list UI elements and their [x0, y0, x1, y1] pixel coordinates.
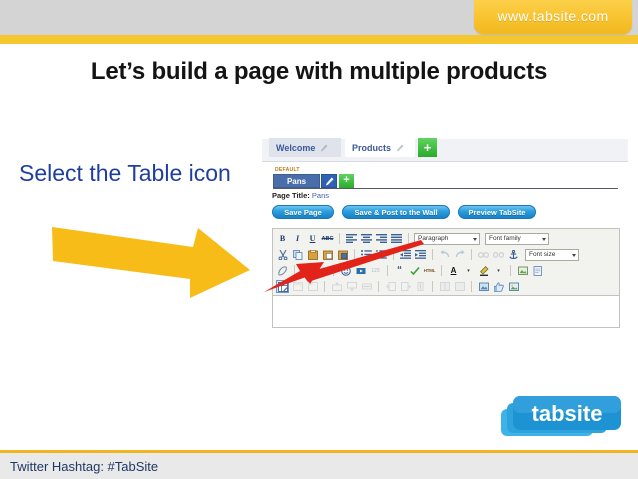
toolbar-separator [510, 265, 511, 276]
page-title-value: Pans [312, 191, 329, 200]
toolbar-separator [471, 249, 472, 260]
page-title-row: Page Title: Pans [272, 191, 329, 200]
red-pointer-arrow [262, 240, 437, 300]
tab-welcome-label: Welcome [276, 143, 315, 153]
insert-photo-icon[interactable] [477, 280, 490, 293]
footer-bar: Twitter Hashtag: #TabSite [0, 453, 638, 479]
website-badge-label: www.tabsite.com [474, 8, 632, 24]
slide-canvas: www.tabsite.com Let’s build a page with … [0, 0, 638, 479]
like-button-icon[interactable] [492, 280, 505, 293]
orange-callout-arrow [50, 210, 255, 330]
tab-products-label: Products [352, 143, 391, 153]
header-accent-rule [0, 35, 638, 44]
subtab-edit-button[interactable] [321, 174, 337, 188]
undo-icon[interactable] [438, 248, 451, 261]
background-color-caret-icon[interactable]: ▾ [492, 264, 505, 277]
chevron-down-icon [542, 238, 546, 241]
save-post-wall-button[interactable]: Save & Post to the Wall [342, 205, 450, 219]
add-tab-button[interactable]: + [418, 138, 437, 157]
tabsite-logo-text: tabsite [532, 401, 603, 426]
anchor-icon[interactable] [507, 248, 520, 261]
link-icon[interactable] [477, 248, 490, 261]
default-label: DEFAULT [275, 167, 300, 173]
tab-welcome[interactable]: Welcome [269, 138, 341, 157]
chevron-down-icon [473, 238, 477, 241]
toolbar-separator [441, 265, 442, 276]
footer-text: Twitter Hashtag: #TabSite [10, 459, 158, 474]
split-cells-icon[interactable] [438, 280, 451, 293]
insert-image-icon[interactable] [516, 264, 529, 277]
merge-cells-icon[interactable] [453, 280, 466, 293]
insert-gallery-icon[interactable] [507, 280, 520, 293]
page-title: Let’s build a page with multiple product… [0, 58, 638, 86]
chevron-down-icon [572, 254, 576, 257]
font-family-select[interactable]: Font family [485, 233, 549, 245]
pencil-icon[interactable] [320, 144, 328, 152]
unlink-icon[interactable] [492, 248, 505, 261]
subtab-divider [273, 188, 618, 189]
instruction-caption: Select the Table icon [19, 160, 231, 187]
tab-products[interactable]: Products [345, 138, 415, 157]
background-color-icon[interactable] [477, 264, 490, 277]
redo-icon[interactable] [453, 248, 466, 261]
text-color-caret-icon[interactable]: ▾ [462, 264, 475, 277]
editor-content-area[interactable] [272, 296, 620, 328]
app-screenshot: Welcome Products + DEFAULT Pans + Page T… [262, 135, 628, 335]
toolbar-separator [471, 281, 472, 292]
font-size-select[interactable]: Font size [525, 249, 579, 261]
pencil-icon [325, 177, 334, 186]
pencil-icon[interactable] [396, 144, 404, 152]
insert-file-icon[interactable] [531, 264, 544, 277]
text-color-icon[interactable]: A [447, 264, 460, 277]
save-page-button[interactable]: Save Page [272, 205, 334, 219]
tabsite-logo: tabsite [499, 393, 625, 445]
page-title-label: Page Title: [272, 191, 310, 200]
font-family-select-value: Font family [489, 235, 521, 242]
subtab-pans[interactable]: Pans [273, 174, 320, 188]
preview-tabsite-button[interactable]: Preview TabSite [458, 205, 536, 219]
add-subtab-button[interactable]: + [339, 174, 354, 188]
font-size-select-value: Font size [529, 251, 555, 258]
website-badge: www.tabsite.com [474, 0, 632, 34]
